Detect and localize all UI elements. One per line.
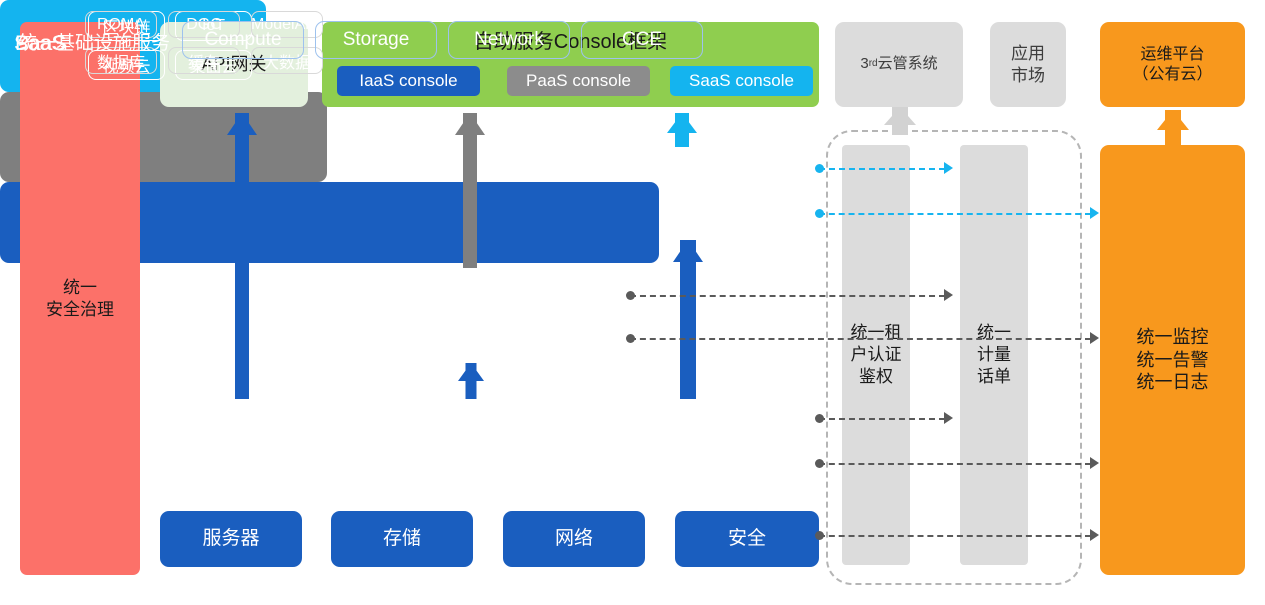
third-cloud-label: 云管系统 (878, 55, 938, 74)
arrow-iaas-to-paas (458, 363, 484, 399)
connector-resources-to-ops (819, 535, 1091, 537)
iaas-chip-storage[interactable]: Storage (315, 21, 437, 59)
security-governance-panel[interactable]: 统一 安全治理 (20, 22, 140, 575)
metering-billing-column[interactable]: 统一 计量 话单 (960, 145, 1028, 565)
arrow-iaas-to-apigw (227, 113, 257, 399)
architecture-diagram: 统一 安全治理 API网关 自助服务Console框架 IaaS console… (0, 0, 1265, 605)
third-cloud-superscript: rd (869, 58, 878, 71)
ops-platform-box[interactable]: 运维平台 （公有云） (1100, 22, 1245, 107)
resource-storage-box[interactable]: 存储 (331, 511, 473, 567)
resource-server-box[interactable]: 服务器 (160, 511, 302, 567)
arrow-zone-to-third-cloud (885, 107, 915, 135)
connector-saas-to-auth (819, 168, 945, 170)
arrow-iaas-to-saas (673, 240, 703, 399)
arrow-paas-to-console (455, 113, 485, 268)
arrowhead-paas-to-auth (944, 289, 953, 301)
third-party-cloud-mgmt-box[interactable]: 3rd云管系统 (835, 22, 963, 107)
iaas-chip-compute[interactable]: Compute (182, 21, 304, 59)
arrowhead-iaas-to-ops (1090, 457, 1099, 469)
arrowhead-paas-to-ops (1090, 332, 1099, 344)
connector-iaas-to-ops (819, 463, 1091, 465)
arrowhead-saas-to-auth (944, 162, 953, 174)
connector-iaas-to-auth (819, 418, 945, 420)
connector-paas-to-ops (630, 338, 1091, 340)
connector-saas-to-ops (819, 213, 1091, 215)
saas-console-button[interactable]: SaaS console (670, 66, 813, 96)
arrowhead-iaas-to-auth (944, 412, 953, 424)
third-cloud-prefix: 3 (860, 55, 868, 74)
resource-security-box[interactable]: 安全 (675, 511, 819, 567)
arrowhead-saas-to-ops (1090, 207, 1099, 219)
app-market-box[interactable]: 应用 市场 (990, 22, 1066, 107)
iaas-console-button[interactable]: IaaS console (337, 66, 480, 96)
tenant-auth-column[interactable]: 统一租 户认证 鉴权 (842, 145, 910, 565)
resource-network-box[interactable]: 网络 (503, 511, 645, 567)
arrowhead-resources-to-ops (1090, 529, 1099, 541)
paas-console-button[interactable]: PaaS console (507, 66, 650, 96)
iaas-chip-network[interactable]: Network (448, 21, 570, 59)
arrow-saas-to-console (667, 113, 697, 147)
iaas-chip-cce[interactable]: CCE (581, 21, 703, 59)
iaas-layer-label: 统一基础设施服务 (18, 28, 170, 55)
ops-monitoring-panel[interactable]: 统一监控 统一告警 统一日志 (1100, 145, 1245, 575)
connector-paas-to-auth (630, 295, 945, 297)
arrow-ops-main-to-ops-top (1158, 110, 1188, 145)
